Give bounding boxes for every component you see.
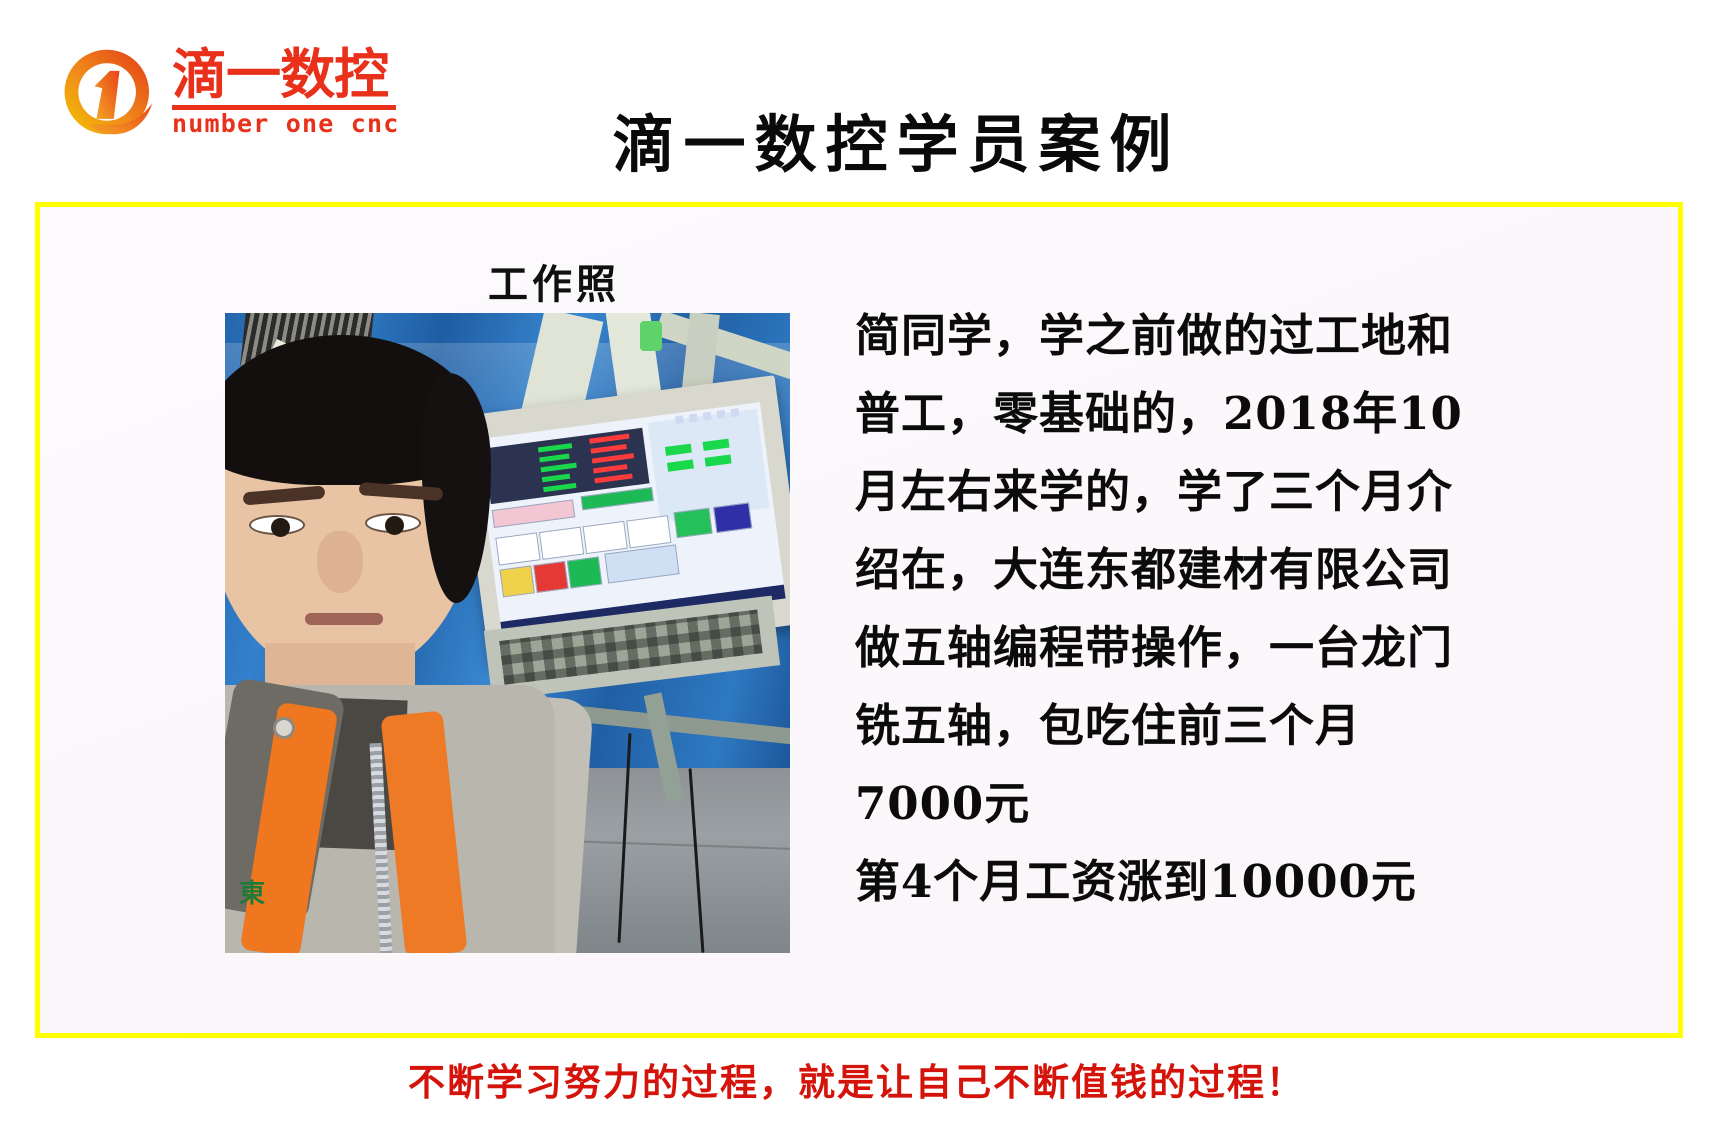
testimonial-line: 普工，零基础的，2018年10: [855, 375, 1615, 453]
student-work-photo: 東: [225, 313, 790, 953]
testimonial-line: 铣五轴，包吃住前三个月: [855, 687, 1615, 765]
testimonial-line: 做五轴编程带操作，一台龙门: [855, 609, 1615, 687]
photo-green-clip: [640, 321, 662, 351]
photo-caption-label: 工作照: [488, 252, 620, 310]
brand-name-cn: 滴一数控: [172, 46, 402, 104]
testimonial-line: 简同学，学之前做的过工地和: [855, 297, 1615, 375]
content-card: 工作照: [35, 202, 1683, 1038]
testimonial-line: 月左右来学的，学了三个月介: [855, 453, 1615, 531]
testimonial-line: 7000元: [855, 765, 1615, 843]
photo-jacket-embroidery: 東: [239, 873, 273, 913]
page-title: 滴一数控学员案例: [0, 108, 1713, 182]
testimonial-text: 简同学，学之前做的过工地和 普工，零基础的，2018年10 月左右来学的，学了三…: [855, 297, 1615, 921]
photo-jacket-snap-button: [273, 717, 295, 739]
testimonial-line: 绍在，大连东都建材有限公司: [855, 531, 1615, 609]
photo-person-mouth: [305, 613, 383, 625]
footer-slogan: 不断学习努力的过程，就是让自己不断值钱的过程！: [0, 1052, 1713, 1106]
photo-person-nose: [317, 531, 363, 593]
testimonial-line: 第4个月工资涨到10000元: [855, 843, 1615, 921]
page-header: 滴一数控 number one cnc 滴一数控学员案例: [0, 0, 1713, 200]
